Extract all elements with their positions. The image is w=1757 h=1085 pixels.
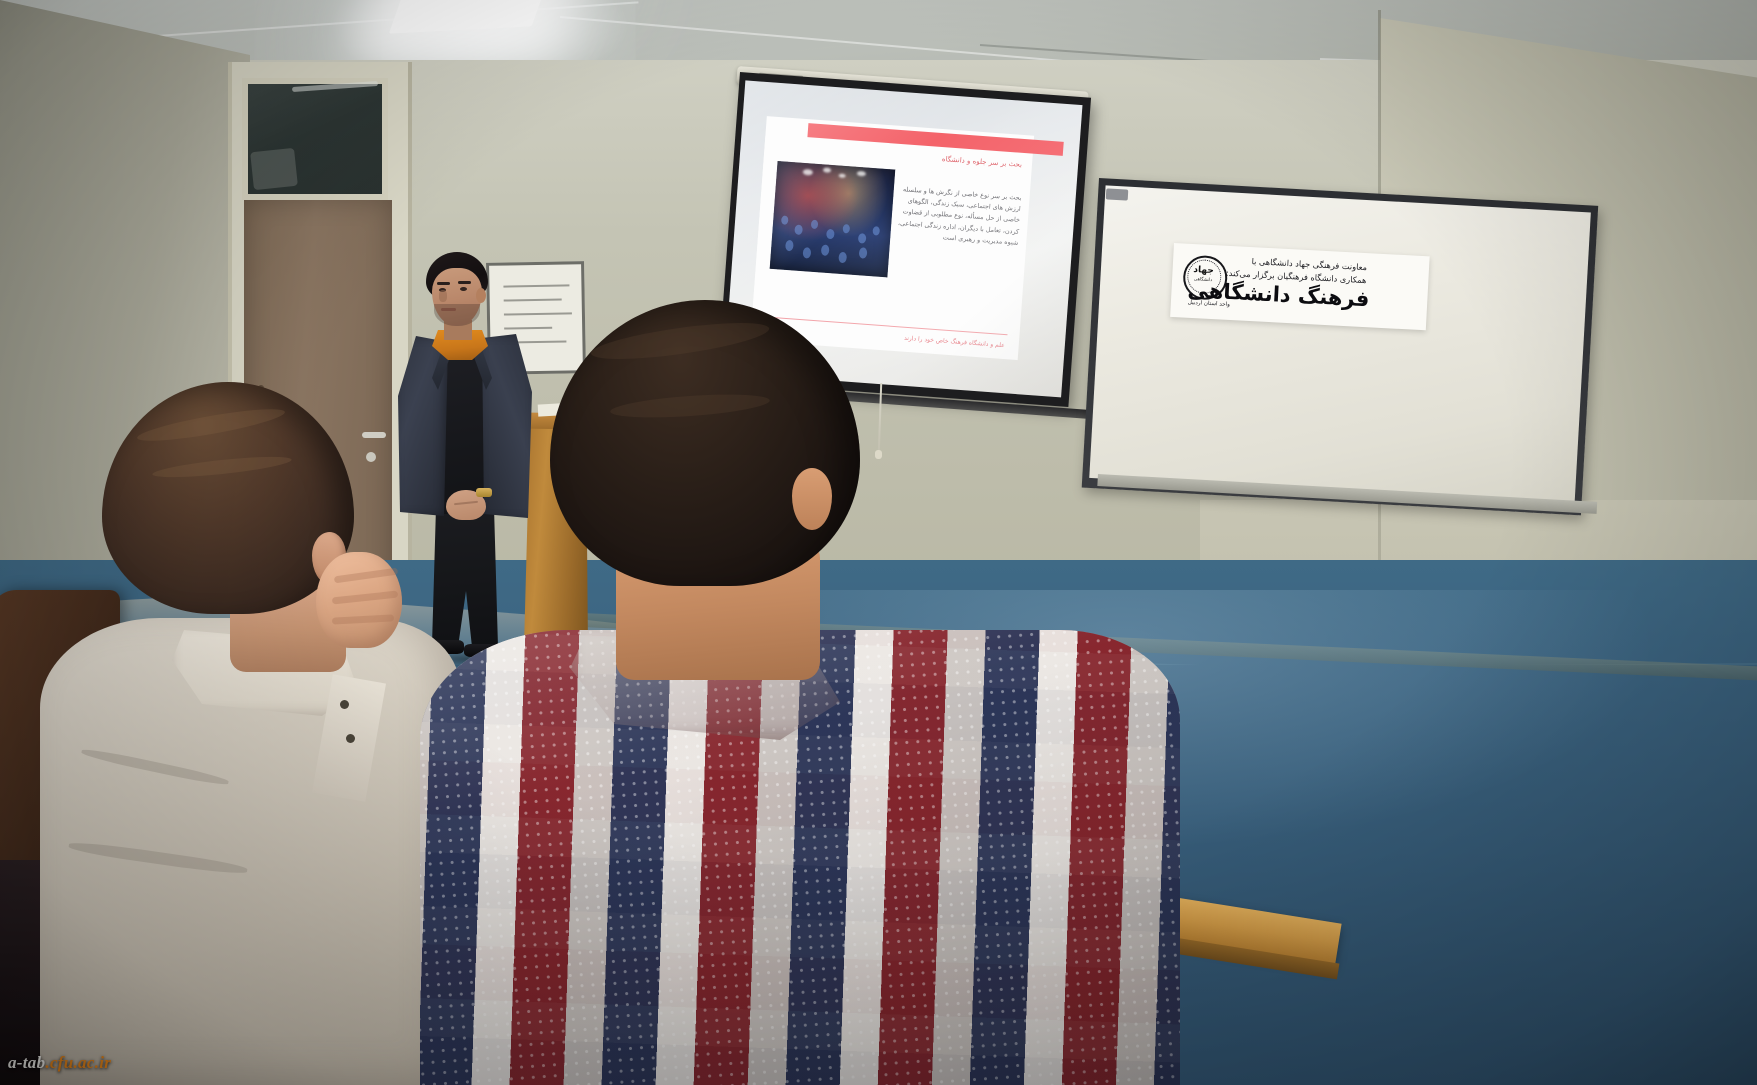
student-front-center [420,300,1180,1085]
watermark-primary: a-tab [8,1053,45,1072]
crowd-dot [785,240,794,252]
slide-crowd-image [770,161,896,277]
crowd-dot [803,247,812,259]
student-front-left [40,382,460,1085]
shirt-button [346,734,355,743]
crowd-dot [838,252,847,264]
crowd-dot [826,229,835,240]
crowd-dot [859,247,868,259]
stage-light [823,167,831,173]
slide-body-text: بحث بر سر نوع خاصی از نگرش ها و سلسله ار… [892,184,1022,249]
stage-light [803,169,813,176]
whiteboard-clip [1106,188,1129,200]
photo-scene: بحث بر سر جلوه و دانشگاه [0,0,1757,1085]
window-reflection [250,148,298,190]
event-poster: جهاد دانشگاهی واحد استان اردبیل معاونت ف… [1170,243,1430,330]
slide-title: بحث بر سر جلوه و دانشگاه [942,155,1023,169]
stage-light [839,174,846,179]
watermark-secondary: .cfu.ac.ir [45,1053,111,1072]
crowd-dot [781,215,789,224]
crowd-dot [794,224,803,235]
slide-accent-bar [807,123,1063,156]
crowd-dot [821,244,830,256]
stage-light [857,171,866,177]
presenter-eyebrow-right [458,281,471,284]
shirt-button [340,700,349,709]
crowd-dot [842,224,850,233]
presenter-eye-right [460,287,467,291]
crowd-dot [858,233,867,244]
presenter-eyebrow-left [437,282,450,285]
site-watermark: a-tab.cfu.ac.ir [8,1053,111,1073]
crowd-dot [872,226,880,235]
crowd-dot [811,220,819,229]
